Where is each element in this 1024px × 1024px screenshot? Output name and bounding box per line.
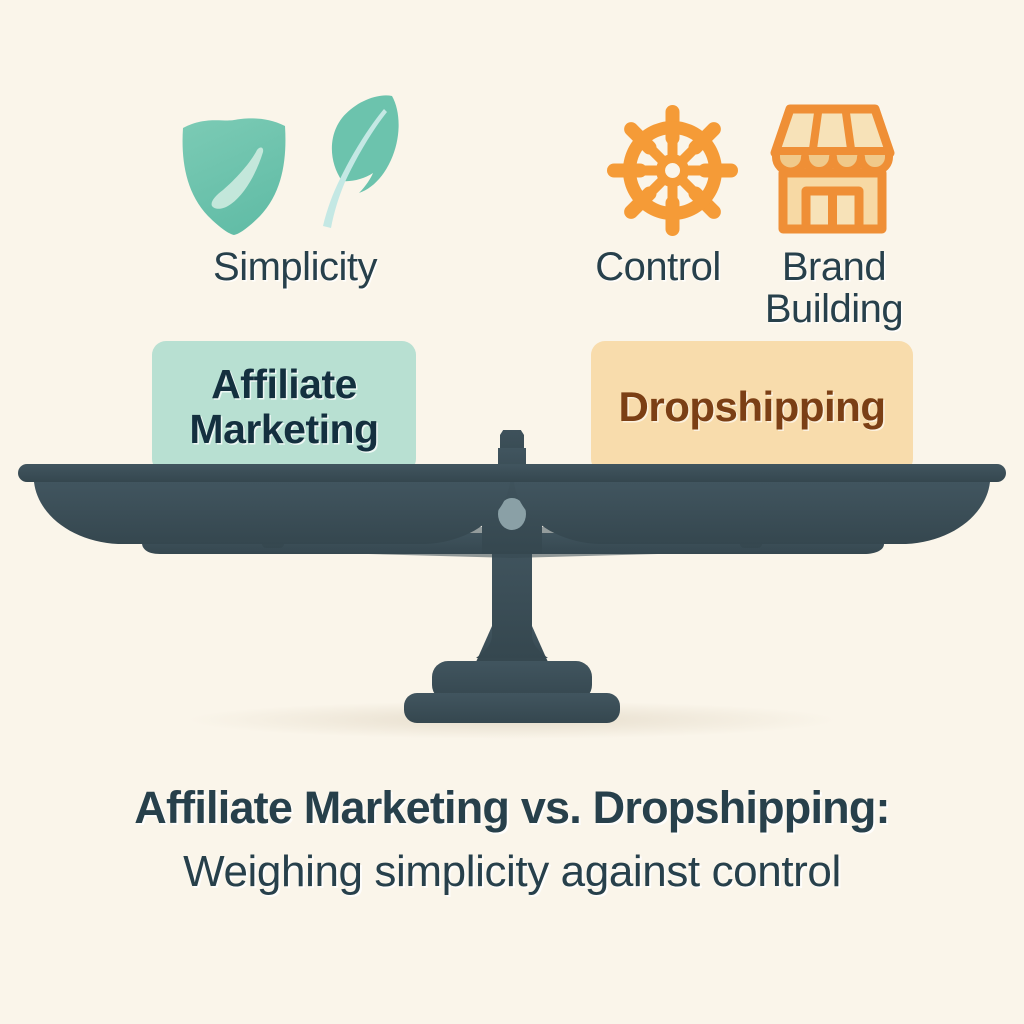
right-icon-cluster xyxy=(590,88,910,238)
infographic-canvas: Simplicity xyxy=(0,0,1024,1024)
brand-building-label: Brand Building xyxy=(756,246,912,331)
balance-scale xyxy=(0,430,1024,770)
caption-line-2: Weighing simplicity against control xyxy=(50,839,974,905)
storefront-icon xyxy=(770,101,895,238)
left-icon-cluster xyxy=(150,88,430,238)
ships-wheel-icon xyxy=(605,103,740,238)
caption: Affiliate Marketing vs. Dropshipping: We… xyxy=(50,778,974,905)
simplicity-label: Simplicity xyxy=(150,246,440,288)
feather-icon xyxy=(309,90,405,238)
scale-pan-left xyxy=(18,464,526,548)
caption-line-1: Affiliate Marketing vs. Dropshipping: xyxy=(50,778,974,839)
scale-pan-right xyxy=(498,464,1006,548)
control-label: Control xyxy=(578,246,738,288)
shield-icon xyxy=(175,106,293,238)
